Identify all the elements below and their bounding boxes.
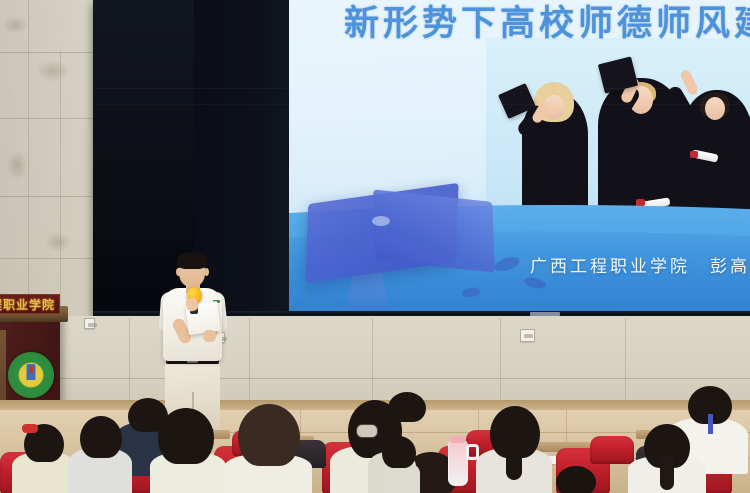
wall-seam	[0, 118, 96, 119]
speaker-ear	[176, 268, 181, 276]
school-emblem-icon	[8, 352, 54, 398]
wall-seam	[372, 318, 373, 400]
wall-switch-plate[interactable]	[520, 329, 535, 342]
hair-scrunchie	[356, 424, 378, 438]
wall-stain	[36, 60, 70, 82]
wall-seam	[0, 196, 96, 197]
lecture-hall-photo: 新形势下高校师德师风建设 广西工程职业学院 彭高彬 工程职业学院	[0, 0, 750, 493]
auditorium-seat[interactable]	[590, 436, 634, 464]
speaker-hair	[177, 252, 207, 269]
wall-seam	[249, 318, 250, 400]
lanyard	[708, 414, 713, 434]
podium-sign: 工程职业学院	[0, 294, 60, 314]
screen-left-bezel	[194, 0, 289, 313]
wall-stain	[44, 232, 72, 252]
wall-seam	[129, 318, 130, 400]
mortarboard-button	[372, 216, 390, 226]
hair-accessory	[22, 424, 38, 433]
wall-outlet[interactable]	[84, 318, 95, 329]
wall-seam	[60, 52, 61, 318]
wall-seam	[28, 0, 29, 318]
podium-sign-text: 工程职业学院	[0, 296, 55, 313]
wall-stain	[6, 150, 28, 180]
graduates-photo	[486, 38, 750, 218]
water-bottle[interactable]	[448, 440, 468, 486]
wall-seam	[500, 318, 501, 400]
slide-title: 新形势下高校师德师风建设	[344, 2, 750, 46]
slide-credit: 广西工程职业学院 彭高彬	[530, 252, 750, 277]
wall-stain	[2, 16, 28, 34]
wall-seam	[625, 318, 626, 400]
ponytail	[506, 440, 522, 480]
ponytail	[660, 454, 674, 490]
mortarboard-graphic-second	[373, 189, 495, 272]
wall-seam	[0, 258, 96, 259]
bottle-cap[interactable]	[450, 436, 466, 443]
speaker-hand-right	[203, 330, 216, 342]
wall-seam	[0, 378, 750, 379]
presentation-slide: 新形势下高校师德师风建设 广西工程职业学院 彭高彬	[194, 0, 750, 313]
speaker-ear	[204, 268, 209, 276]
wall-seam	[0, 52, 96, 53]
